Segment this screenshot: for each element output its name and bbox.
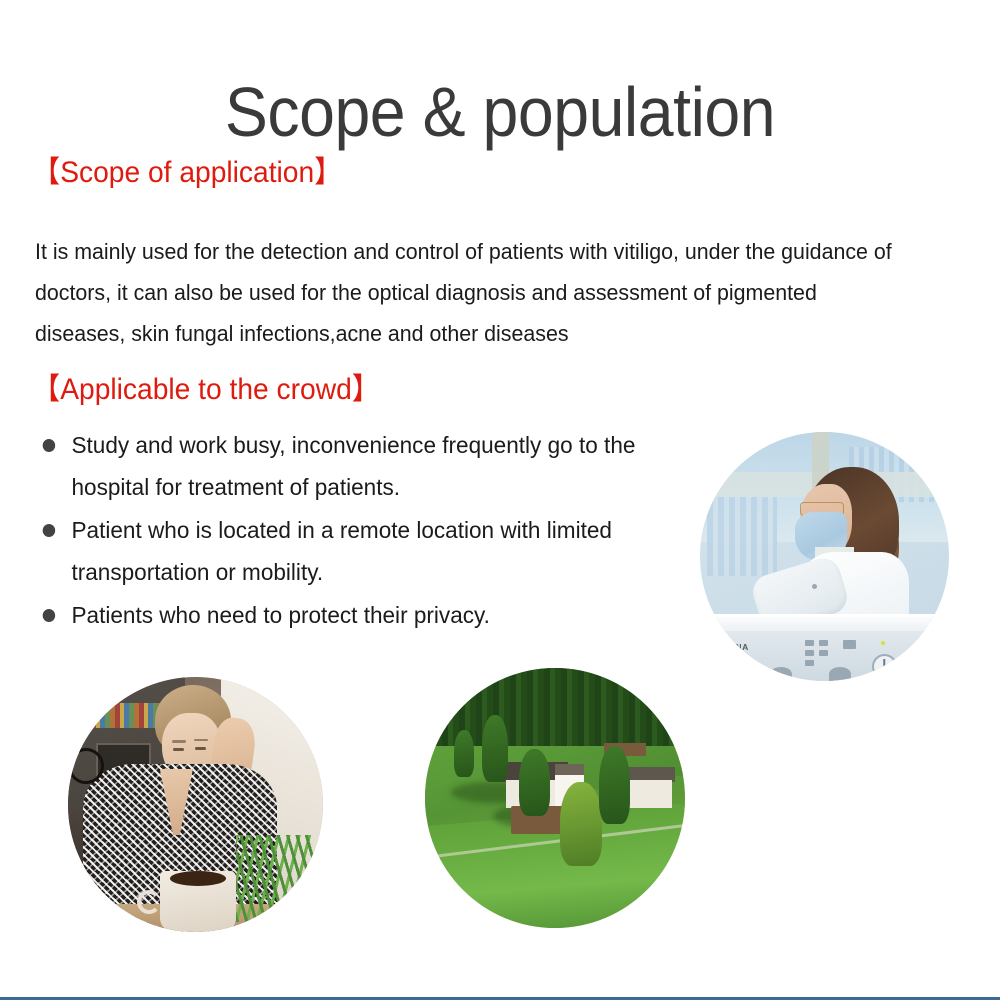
bullet-dot-icon — [43, 609, 55, 622]
console-key-wide — [843, 640, 856, 649]
list-item: Patient who is located in a remote locat… — [35, 509, 707, 593]
eyebrow — [194, 739, 208, 741]
tree — [482, 715, 508, 783]
console-feet — [700, 666, 949, 681]
list-item-label: Patients who need to protect their priva… — [71, 602, 489, 628]
tree — [454, 730, 475, 777]
scope-paragraph: It is mainly used for the detection and … — [35, 231, 909, 354]
list-item: Patients who need to protect their priva… — [35, 594, 707, 636]
eye — [195, 747, 206, 750]
console-key — [805, 640, 814, 646]
bullet-dot-icon — [43, 439, 55, 452]
fona-logo-label: FONA — [722, 642, 748, 652]
crowd-bullet-list: Study and work busy, inconvenience frequ… — [35, 424, 735, 637]
photo-woman — [68, 677, 323, 932]
console-key — [805, 650, 814, 656]
coffee-liquid — [170, 871, 226, 886]
list-item-label: Study and work busy, inconvenience frequ… — [71, 432, 635, 500]
bullet-dot-icon — [43, 524, 55, 537]
photo-doctor: FONA — [700, 432, 949, 681]
tree — [560, 782, 602, 865]
console-foot — [829, 667, 851, 681]
tree — [519, 749, 550, 817]
cup-handle — [137, 890, 161, 914]
section-heading-crowd: 【Applicable to the crowd】 — [32, 372, 380, 408]
console-key — [819, 640, 828, 646]
potted-plant — [236, 835, 313, 922]
tree — [599, 746, 630, 824]
eye — [173, 748, 184, 751]
eyebrow — [172, 740, 186, 742]
church-roof — [555, 764, 584, 774]
list-item-label: Patient who is located in a remote locat… — [71, 517, 611, 585]
page-title: Scope & population — [40, 73, 960, 151]
photo-village — [425, 668, 685, 928]
console-key — [805, 660, 814, 666]
status-led-icon — [881, 641, 885, 645]
console-key — [819, 650, 828, 656]
window-pane — [707, 497, 777, 577]
equipment-arm-joint — [812, 584, 817, 589]
section-heading-scope: 【Scope of application】 — [32, 155, 342, 191]
console-foot — [889, 667, 911, 681]
list-item: Study and work busy, inconvenience frequ… — [35, 424, 707, 508]
console-foot — [770, 667, 792, 681]
